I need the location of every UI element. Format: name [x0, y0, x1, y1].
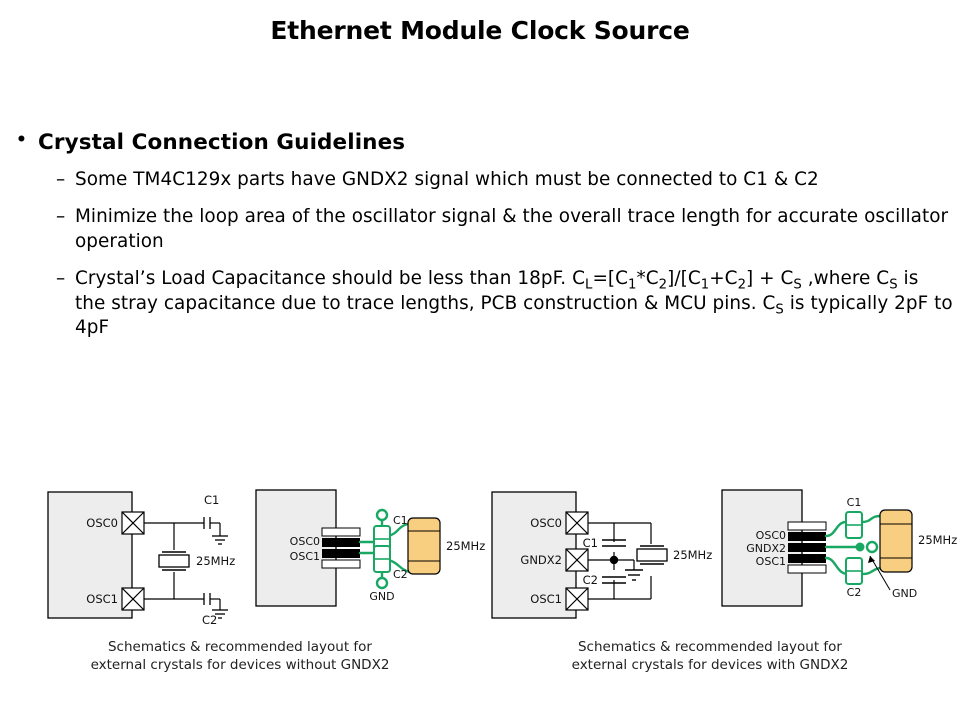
cap-label-c1: C1: [583, 536, 598, 550]
sub-bullet-2-text: Minimize the loop area of the oscillator…: [75, 205, 954, 254]
junction-dot: [856, 543, 865, 552]
sub-bullet-3-text: Crystal’s Load Capacitance should be les…: [75, 267, 954, 340]
pin-label-osc1: OSC1: [530, 592, 562, 606]
bullet-level1: • Crystal Connection Guidelines: [14, 130, 954, 157]
capacitor-c2: C2: [583, 573, 626, 587]
figure-schematic-without-gndx2: OSC0 OSC1: [44, 474, 244, 624]
ground-symbol: [625, 570, 643, 580]
crystal-symbol: 25MHz: [637, 546, 712, 564]
crystal-package: 25MHz: [408, 518, 485, 574]
cap-label-c2: C2: [202, 613, 217, 627]
content-body: • Crystal Connection Guidelines – Some T…: [14, 130, 954, 354]
pad-label-osc1: OSC1: [290, 550, 320, 563]
formula-part: ] + C: [746, 268, 793, 289]
capacitor-c1: C1: [583, 536, 626, 550]
crystal-package: 25MHz: [880, 510, 957, 572]
pad-label-osc0: OSC0: [756, 529, 786, 542]
caption-left: Schematics & recommended layout for exte…: [40, 638, 440, 674]
cap-label-c1: C1: [204, 493, 219, 507]
figure-layout-with-gndx2: OSC0 GNDX2 OSC1 C1: [718, 484, 948, 629]
pad-label-osc1: OSC1: [756, 555, 786, 568]
via-label-gnd: GND: [369, 590, 394, 603]
formula-part: ,where C: [802, 268, 889, 289]
dash-marker-icon: –: [56, 205, 75, 229]
formula-part: +C: [709, 268, 737, 289]
sub-bullet-1: – Some TM4C129x parts have GNDX2 signal …: [56, 168, 954, 192]
cap-label-c1: C1: [847, 496, 862, 509]
formula-sub: 1: [628, 278, 636, 293]
formula-part: =[C: [592, 268, 628, 289]
junction-dot: [610, 556, 618, 564]
capacitor-c1: C1: [204, 493, 228, 544]
formula-sub: S: [889, 278, 897, 293]
figure-layout-without-gndx2: OSC0 OSC1 C1: [252, 484, 472, 624]
pad-label-osc0: OSC0: [290, 535, 320, 548]
capacitor-footprint-c1: C1: [846, 496, 862, 538]
via-label-gnd: GND: [892, 587, 917, 600]
figure-schematic-with-gndx2: OSC0 GNDX2 OSC1: [488, 474, 703, 624]
sub-bullet-1-text: Some TM4C129x parts have GNDX2 signal wh…: [75, 168, 819, 192]
pad-label-gndx2: GNDX2: [746, 542, 786, 555]
crystal-label: 25MHz: [918, 533, 957, 547]
formula-sub: S: [793, 278, 801, 293]
slide-root: Ethernet Module Clock Source • Crystal C…: [0, 0, 960, 720]
formula-sub: 1: [701, 278, 709, 293]
pin-label-osc1: OSC1: [86, 592, 118, 606]
via-icon: [377, 510, 387, 520]
crystal-label: 25MHz: [196, 554, 235, 568]
page-title: Ethernet Module Clock Source: [0, 16, 960, 45]
cap-label-c2: C2: [847, 586, 862, 599]
capacitor-footprint-c2: C2: [846, 558, 862, 599]
cap-label-c2: C2: [583, 573, 598, 587]
crystal-label: 25MHz: [673, 548, 712, 562]
formula-part: *C: [637, 268, 659, 289]
dash-marker-icon: –: [56, 168, 75, 192]
sub-bullet-2: – Minimize the loop area of the oscillat…: [56, 205, 954, 254]
formula-part: Crystal’s Load Capacitance should be les…: [75, 268, 585, 289]
figures-area: OSC0 OSC1: [0, 462, 960, 702]
crystal-symbol: 25MHz: [159, 552, 235, 570]
cap-label-c1: C1: [393, 514, 408, 527]
crystal-label: 25MHz: [446, 539, 485, 553]
bullet-marker-icon: •: [14, 130, 38, 151]
dash-marker-icon: –: [56, 267, 75, 291]
formula-sub: S: [775, 302, 783, 317]
cap-label-c2: C2: [393, 568, 408, 581]
caption-right: Schematics & recommended layout for exte…: [510, 638, 910, 674]
pin-label-osc0: OSC0: [86, 516, 118, 530]
pin-label-osc0: OSC0: [530, 516, 562, 530]
via-icon-gnd: [377, 578, 387, 588]
chip-body: [256, 490, 336, 606]
capacitor-c2: C2: [202, 593, 228, 627]
formula-sub: 2: [659, 278, 667, 293]
pin-label-gndx2: GNDX2: [520, 553, 562, 567]
via-icon-gnd: [867, 542, 877, 552]
sub-bullet-3: – Crystal’s Load Capacitance should be l…: [56, 267, 954, 340]
formula-part: ]/[C: [667, 268, 701, 289]
bullet-heading: Crystal Connection Guidelines: [38, 130, 405, 157]
formula-sub: 2: [738, 278, 746, 293]
capacitor-footprint-c2: C2: [374, 546, 408, 581]
